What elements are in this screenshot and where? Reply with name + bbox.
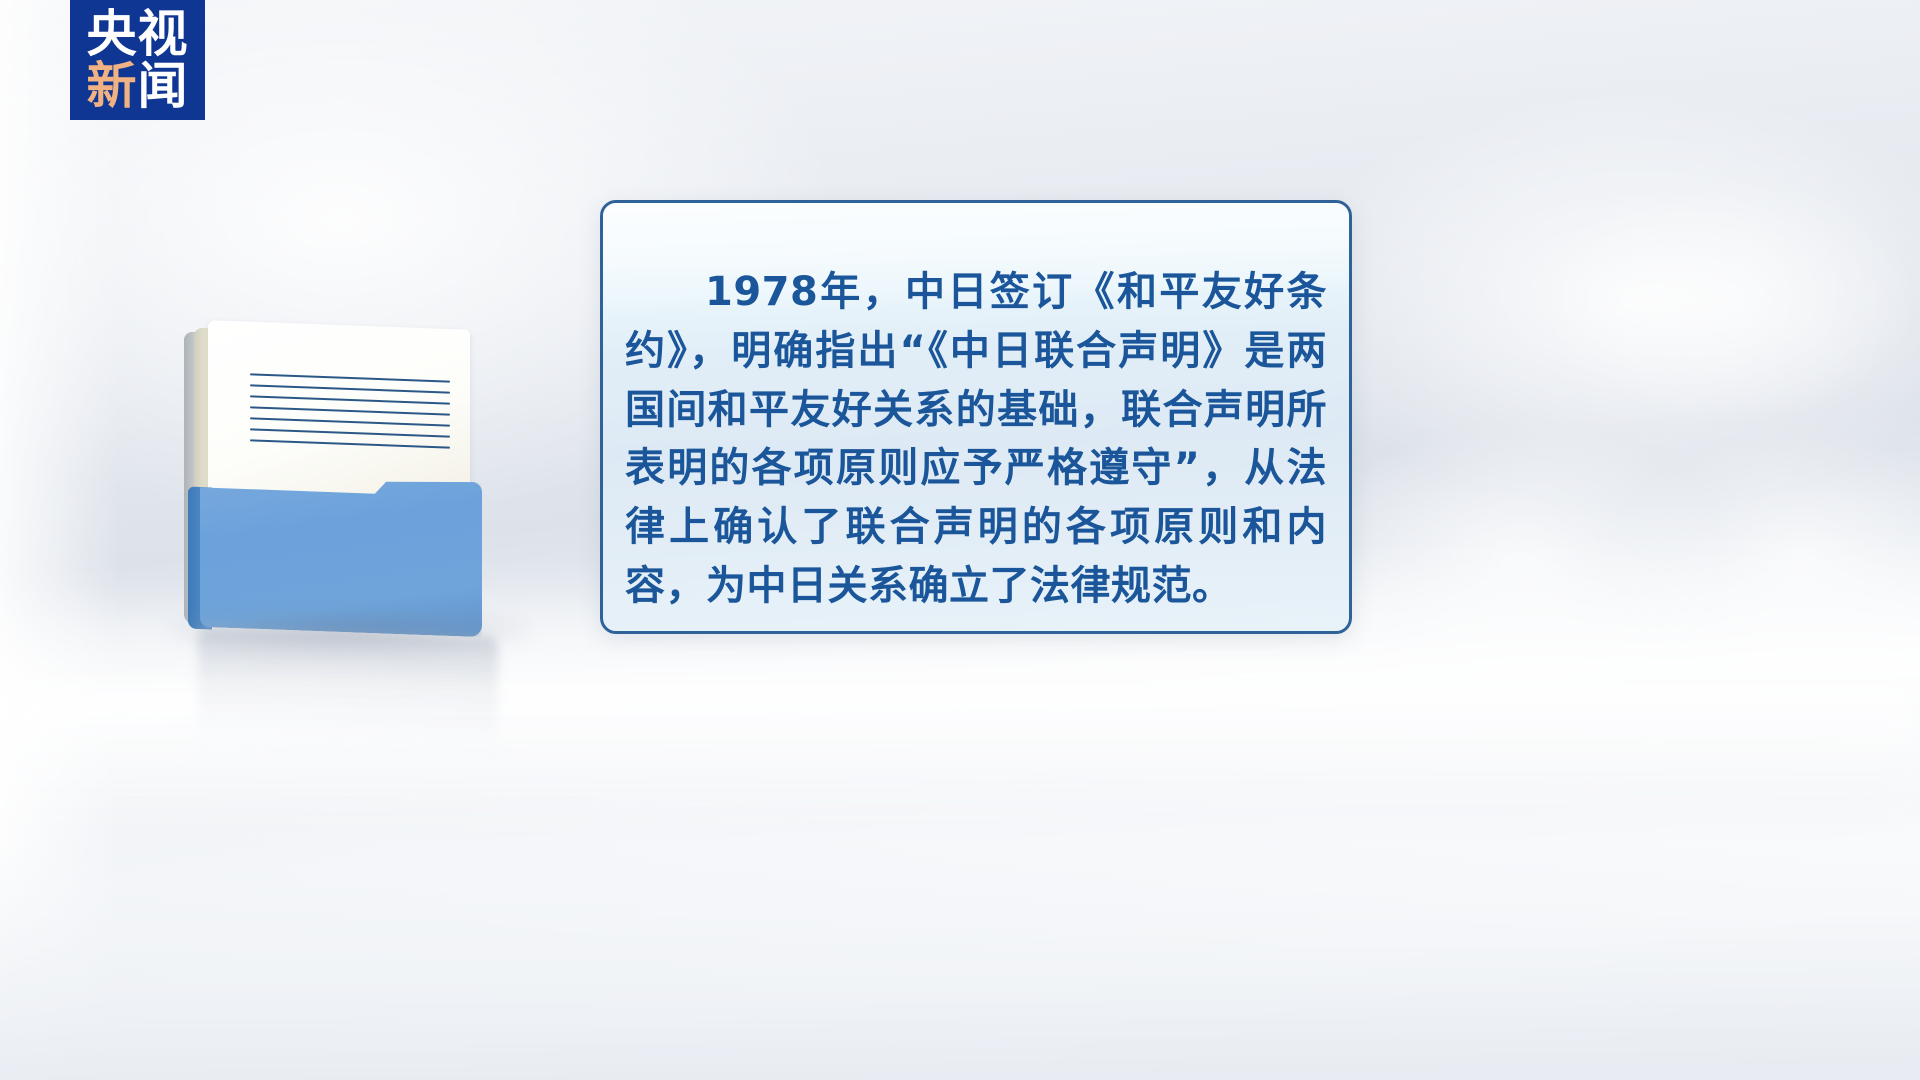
quote-card-text: 1978年，中日签订《和平友好条约》，明确指出“《中日联合声明》是两国间和平友好… (603, 203, 1349, 616)
cctv-news-logo: 央视 新 闻 (70, 0, 205, 120)
background-bottom-vignette (0, 840, 1920, 1080)
rule-line (250, 428, 450, 437)
logo-char-wen: 闻 (138, 60, 189, 112)
logo-char-yang: 央视 (87, 8, 189, 60)
rule-line (250, 417, 450, 426)
quote-card: 1978年，中日签订《和平友好条约》，明确指出“《中日联合声明》是两国间和平友好… (600, 200, 1352, 634)
logo-line-two: 新 闻 (87, 60, 189, 112)
logo-char-xin: 新 (87, 60, 138, 112)
paper-rule-lines (250, 373, 450, 460)
rule-line (250, 384, 450, 393)
rule-line (250, 395, 450, 404)
broadcast-graphic-stage: 央视 新 闻 1978年，中日签订《和平友好条约》，明确指出“《中日联合声明》是… (0, 0, 1920, 1080)
folder-reflection (198, 627, 498, 767)
logo-line-one: 央视 (87, 8, 189, 60)
rule-line (250, 406, 450, 415)
document-folder-icon (180, 322, 500, 632)
background-left-vignette (0, 0, 120, 1080)
rule-line (250, 439, 450, 448)
